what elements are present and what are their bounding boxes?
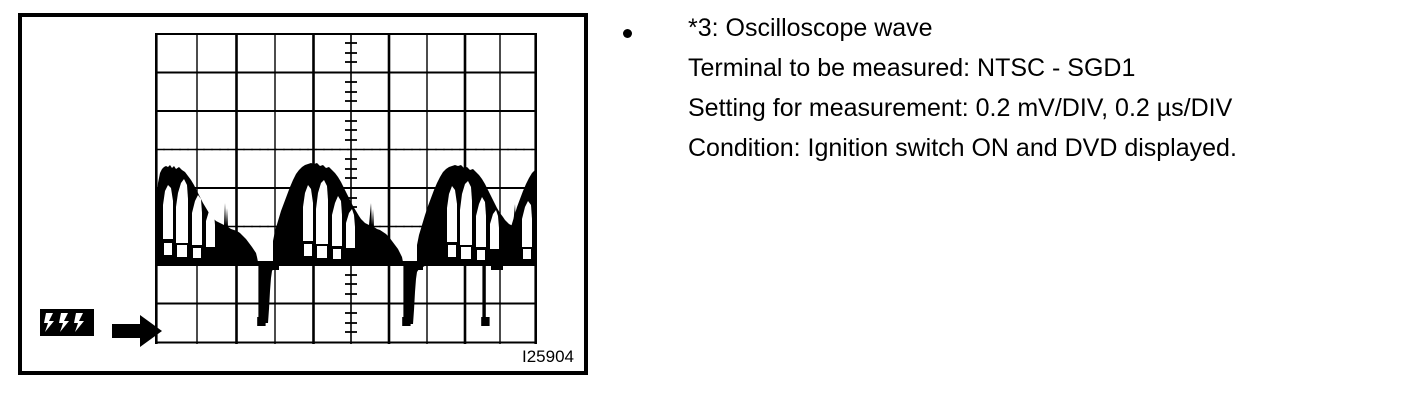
note-line-condition: Condition: Ignition switch ON and DVD di… — [688, 128, 1388, 168]
right-arrow-icon — [112, 313, 164, 349]
note-line-title: *3: Oscilloscope wave — [688, 8, 1388, 48]
oscilloscope-screen — [155, 33, 537, 344]
note-text-lines: *3: Oscilloscope wave Terminal to be mea… — [688, 8, 1388, 168]
oscilloscope-figure-panel: I25904 — [18, 13, 588, 375]
note-line-terminal: Terminal to be measured: NTSC - SGD1 — [688, 48, 1388, 88]
bullet-icon — [623, 29, 632, 38]
figure-id-label: I25904 — [522, 347, 574, 367]
note-line-setting: Setting for measurement: 0.2 mV/DIV, 0.2… — [688, 88, 1388, 128]
ground-level-marker-icon — [40, 309, 94, 336]
ntsc-composite-waveform — [155, 33, 537, 344]
